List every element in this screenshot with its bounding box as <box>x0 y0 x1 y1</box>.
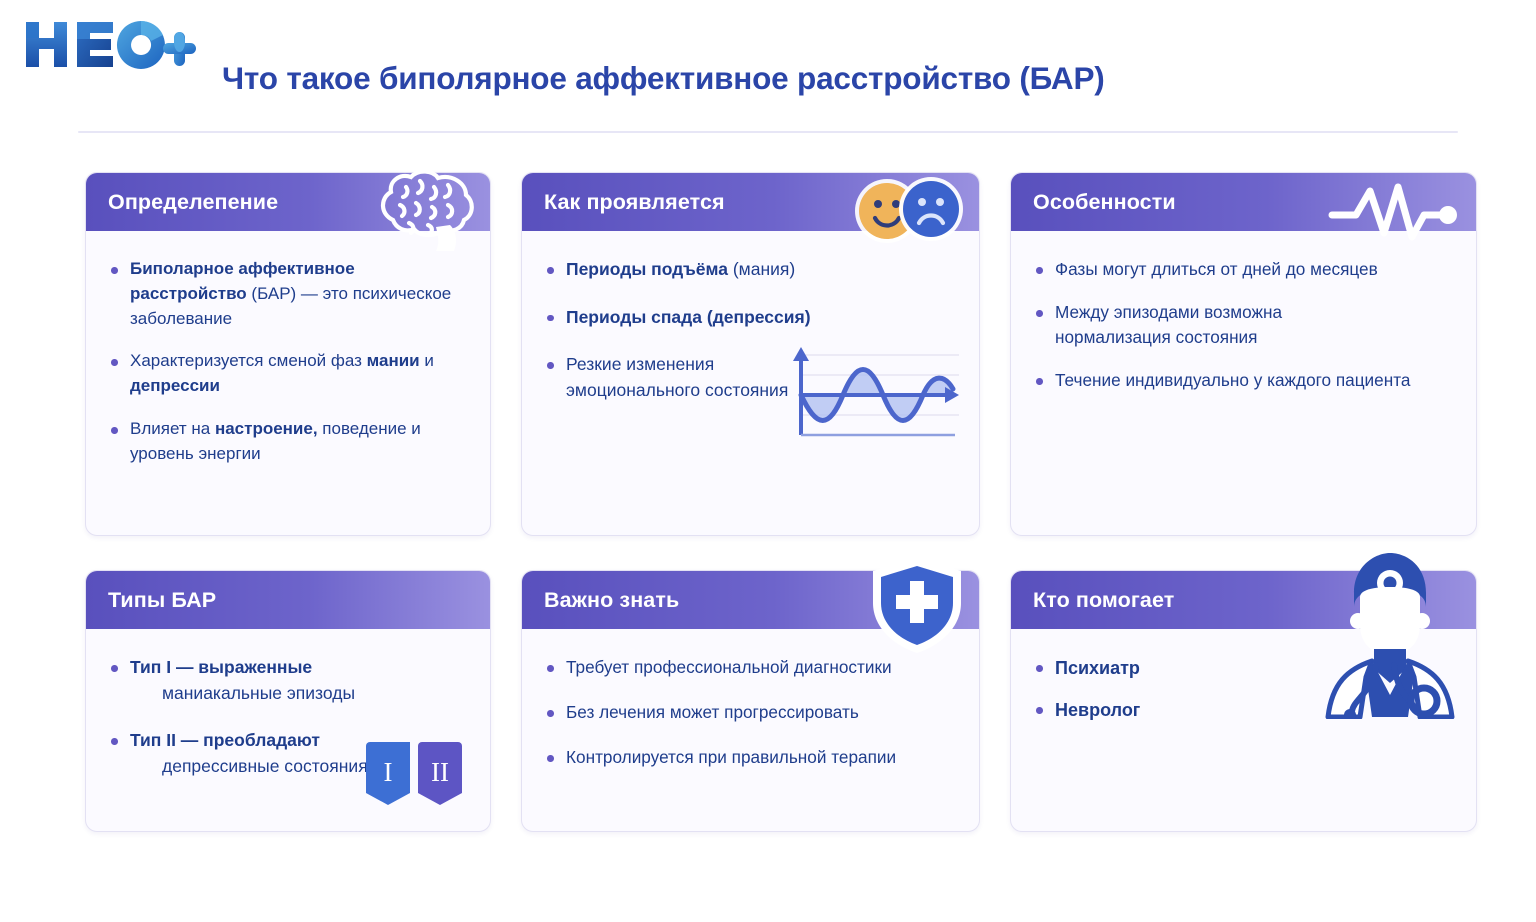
list-item: Контролируется при правильной терапии <box>544 745 957 770</box>
list-item: Психиатр <box>1033 655 1454 681</box>
list-item: Влияет на настроение, поведение и уровен… <box>108 417 468 467</box>
list-item: Периоды подъёма (мания) <box>544 257 957 283</box>
card-body-types: Тип I — выраженные маниакальные эпизоды … <box>86 629 490 831</box>
svg-text:II: II <box>431 757 449 787</box>
title-divider <box>78 131 1458 133</box>
card-manifestation: Как проявляется <box>521 172 980 536</box>
bullet-text: Влияет на <box>130 419 215 438</box>
card-header-types: Типы БАР <box>86 571 490 629</box>
type-badges-icon: I II <box>364 741 468 807</box>
bullet-subtext: маниакальные эпизоды <box>130 681 355 707</box>
list-item: Без лечения может прогрессировать <box>544 700 957 725</box>
list-item: Характеризуется сменой фаз мании и депре… <box>108 349 468 399</box>
list-item: Тип I — выраженные маниакальные эпизоды <box>108 655 468 706</box>
page-title: Что такое биполярное аффективное расстро… <box>222 60 1105 97</box>
list-item: Невролог <box>1033 697 1454 723</box>
card-features: Особенности Фазы могут длиться от дней д… <box>1010 172 1477 536</box>
bullet-text: Резкие изменения эмоционального состояни… <box>566 354 788 400</box>
cards-grid: Определепение <box>85 172 1457 832</box>
list-item: Фазы могут длиться от дней до месяцев <box>1033 257 1454 282</box>
card-header-definition: Определепение <box>86 173 490 231</box>
infographic-page: Что такое биполярное аффективное расстро… <box>0 0 1536 922</box>
card-title: Важно знать <box>544 588 679 613</box>
bullet-text: Характеризуется сменой фаз <box>130 351 367 370</box>
bullet-list: Психиатр Невролог <box>1033 655 1454 724</box>
bullet-list: Биполарное аффективное расстройство (БАР… <box>108 257 468 467</box>
list-item: Между эпизодами возможна нормализация со… <box>1033 300 1333 350</box>
card-definition: Определепение <box>85 172 491 536</box>
list-item: Течение индивидуально у каждого пациента <box>1033 368 1454 393</box>
bullet-subtext: депрессивные состояния <box>130 754 368 780</box>
bullet-bold-text: депрессии <box>130 376 220 395</box>
sine-wave-chart-icon <box>777 339 965 443</box>
list-item: Резкие изменения эмоционального состояни… <box>544 352 794 403</box>
bullet-list: Фазы могут длиться от дней до месяцев Ме… <box>1033 257 1454 393</box>
card-header-important: Важно знать <box>522 571 979 629</box>
bullet-bold-text: Тип II — преобладают <box>130 730 320 750</box>
card-header-features: Особенности <box>1011 173 1476 231</box>
card-title: Типы БАР <box>108 588 216 613</box>
card-header-manifestation: Как проявляется <box>522 173 979 231</box>
svg-text:I: I <box>384 757 393 787</box>
neo-plus-logo <box>22 16 202 74</box>
card-body-manifestation: Периоды подъёма (мания) Периоды спада (д… <box>522 231 979 535</box>
bullet-bold-text: мании <box>367 351 420 370</box>
bullet-bold-text: Тип I — выраженные <box>130 657 312 677</box>
card-body-features: Фазы могут длиться от дней до месяцев Ме… <box>1011 231 1476 535</box>
bullet-list: Требует профессиональной диагностики Без… <box>544 655 957 770</box>
card-body-important: Требует профессиональной диагностики Без… <box>522 629 979 831</box>
bullet-bold-text: Периоды спада (депрессия) <box>566 307 811 327</box>
card-header-who-helps: Кто помогает <box>1011 571 1476 629</box>
card-body-definition: Биполарное аффективное расстройство (БАР… <box>86 231 490 535</box>
bullet-text: и <box>420 351 434 370</box>
bullet-bold-text: настроение, <box>215 419 318 438</box>
bullet-bold-text: Периоды подъёма <box>566 259 728 279</box>
card-important: Важно знать Требует профессиональной диа… <box>521 570 980 832</box>
card-title: Определепение <box>108 190 278 215</box>
card-body-who-helps: Психиатр Невролог <box>1011 629 1476 831</box>
page-header: Что такое биполярное аффективное расстро… <box>0 0 1536 132</box>
card-title: Как проявляется <box>544 190 725 215</box>
list-item: Требует профессиональной диагностики <box>544 655 957 680</box>
list-item: Периоды спада (депрессия) <box>544 305 957 331</box>
card-title: Кто помогает <box>1033 588 1174 613</box>
list-item: Биполарное аффективное расстройство (БАР… <box>108 257 468 331</box>
card-types: Типы БАР Тип I — выраженные маниакальные… <box>85 570 491 832</box>
bullet-text: (мания) <box>728 259 795 279</box>
card-title: Особенности <box>1033 190 1176 215</box>
card-who-helps: Кто помогает <box>1010 570 1477 832</box>
